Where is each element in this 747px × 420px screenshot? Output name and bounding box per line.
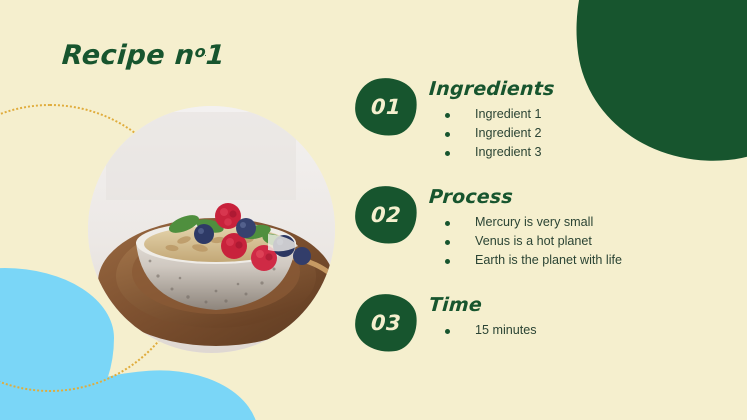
title-text: Recipe n bbox=[61, 40, 196, 71]
bullet-list-ingredients: Ingredient 1 Ingredient 2 Ingredient 3 bbox=[429, 105, 740, 162]
blue-circle-decoration bbox=[0, 330, 80, 420]
section-ingredients: 01 Ingredients Ingredient 1 Ingredient 2… bbox=[355, 78, 740, 162]
section-number-01: 01 bbox=[370, 95, 401, 119]
section-heading-process: Process bbox=[428, 186, 513, 208]
food-photo-illustration bbox=[88, 106, 335, 353]
bullet-list-process: Mercury is very small Venus is a hot pla… bbox=[429, 213, 740, 270]
section-process: 02 Process Mercury is very small Venus i… bbox=[355, 186, 740, 270]
list-item: Mercury is very small bbox=[445, 213, 740, 232]
title-number: 1 bbox=[205, 40, 226, 71]
sections-container: 01 Ingredients Ingredient 1 Ingredient 2… bbox=[355, 78, 740, 340]
section-heading-time: Time bbox=[428, 294, 483, 316]
page-title: Recipe no1 bbox=[61, 40, 226, 71]
section-number-02: 02 bbox=[370, 203, 401, 227]
list-item: Ingredient 1 bbox=[445, 105, 740, 124]
section-time: 03 Time 15 minutes bbox=[355, 294, 740, 340]
blue-blob-bottom-decoration bbox=[4, 363, 262, 420]
section-heading-ingredients: Ingredients bbox=[428, 78, 555, 100]
list-item: Earth is the planet with life bbox=[445, 251, 740, 270]
list-item: Venus is a hot planet bbox=[445, 232, 740, 251]
recipe-photo bbox=[88, 106, 335, 353]
list-item: Ingredient 2 bbox=[445, 124, 740, 143]
bullet-list-time: 15 minutes bbox=[429, 321, 740, 340]
blue-blob-left-decoration bbox=[0, 268, 114, 420]
section-number-03: 03 bbox=[370, 311, 401, 335]
list-item: Ingredient 3 bbox=[445, 143, 740, 162]
recipe-slide: Recipe no1 01 Ingredients Ingredient 1 I… bbox=[0, 0, 747, 420]
list-item: 15 minutes bbox=[445, 321, 740, 340]
